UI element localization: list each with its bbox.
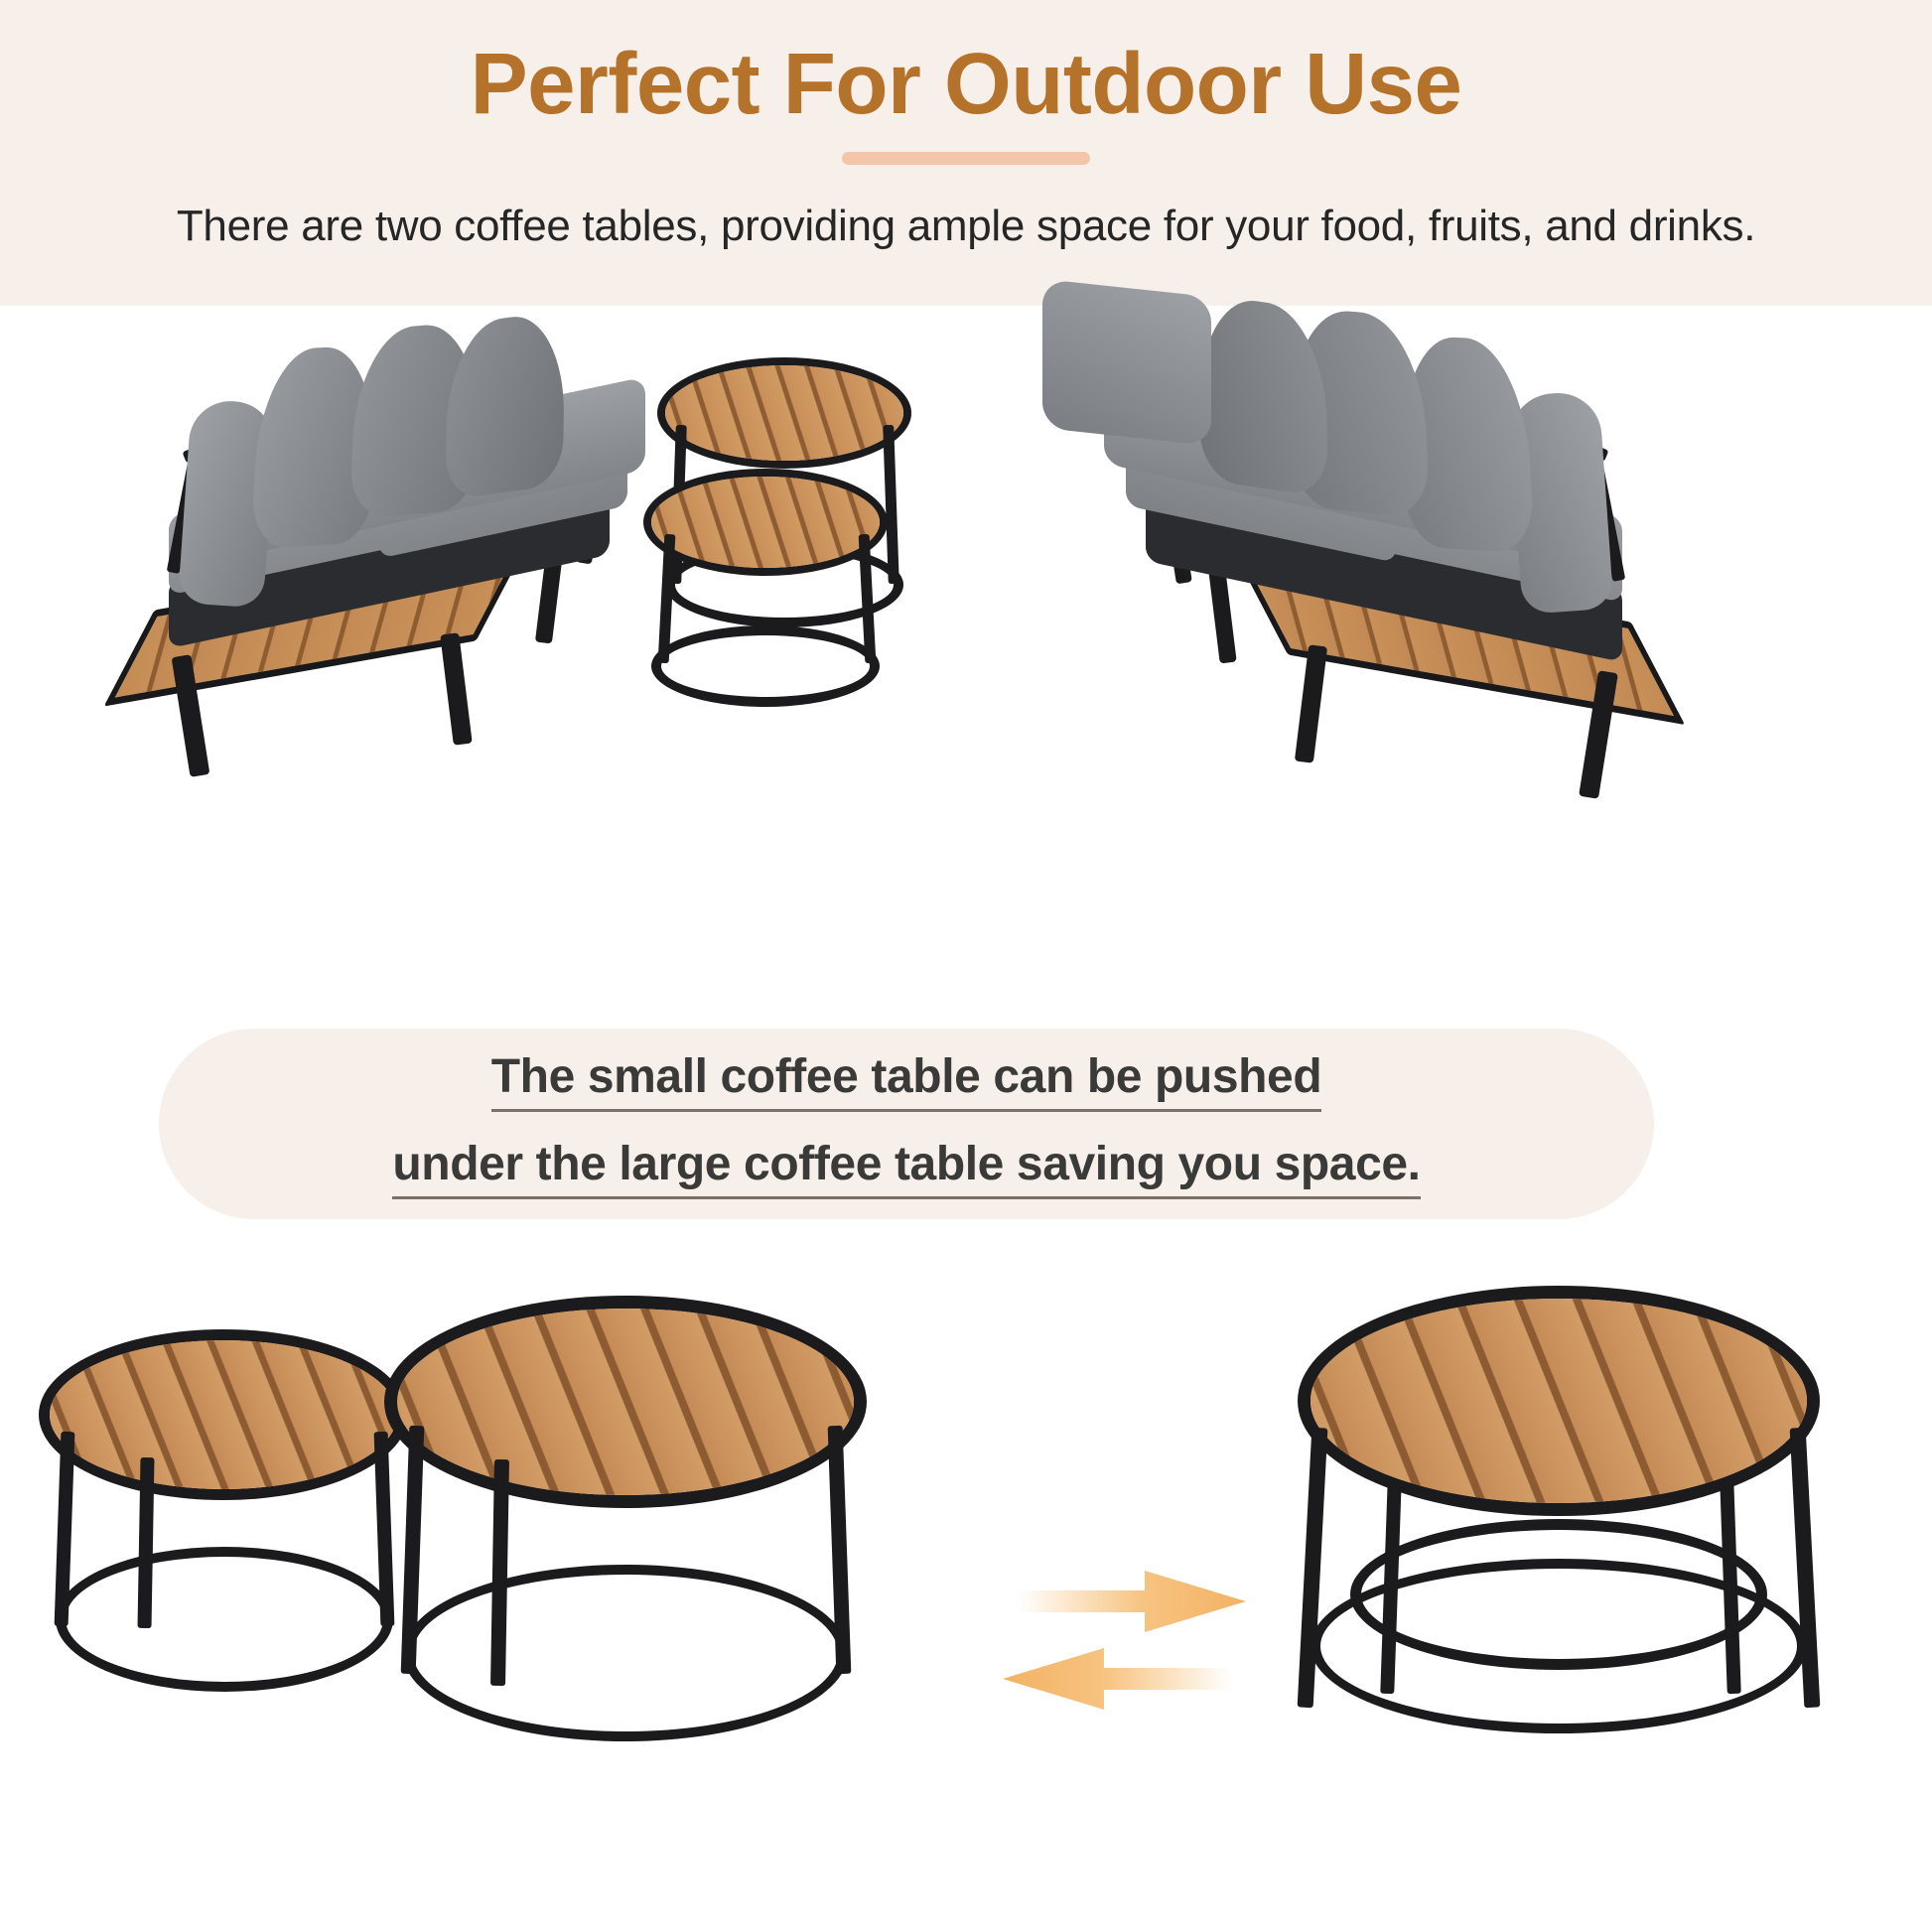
sofa-back-pillow xyxy=(445,310,565,501)
table-base-ring xyxy=(1311,1559,1807,1733)
sofa-back-pillow xyxy=(1197,293,1328,497)
table-leg xyxy=(883,425,899,584)
table-top xyxy=(651,477,880,568)
title-divider xyxy=(842,152,1090,165)
right-sofa xyxy=(953,276,1648,872)
nested-coffee-tables xyxy=(1281,1299,1837,1735)
sofa-leg xyxy=(1295,644,1327,762)
sofa-corner-pillow xyxy=(1042,279,1211,446)
nesting-tables-scene xyxy=(0,1241,1932,1932)
mid-banner-line-2: under the large coffee table saving you … xyxy=(392,1137,1420,1199)
table-base-ring xyxy=(651,625,880,707)
table-base-ring xyxy=(403,1565,848,1741)
table-base-ring xyxy=(56,1547,393,1692)
table-top xyxy=(397,1309,854,1495)
table-top xyxy=(50,1340,397,1489)
hero-scene xyxy=(0,306,1932,1040)
mid-banner-line-1: The small coffee table can be pushed xyxy=(491,1049,1322,1112)
arrow-left xyxy=(1003,1648,1231,1710)
page-subtitle: There are two coffee tables, providing a… xyxy=(177,202,1755,251)
header-band: Perfect For Outdoor Use There are two co… xyxy=(0,0,1932,306)
center-small-coffee-table xyxy=(651,477,880,695)
sofa-leg xyxy=(440,632,473,745)
table-top xyxy=(1311,1299,1807,1503)
mid-banner: The small coffee table can be pushed und… xyxy=(159,1029,1654,1219)
table-top xyxy=(665,365,903,461)
page-title: Perfect For Outdoor Use xyxy=(471,36,1462,132)
large-coffee-table xyxy=(397,1309,854,1706)
arrow-right xyxy=(1018,1571,1246,1632)
small-coffee-table xyxy=(50,1340,397,1668)
